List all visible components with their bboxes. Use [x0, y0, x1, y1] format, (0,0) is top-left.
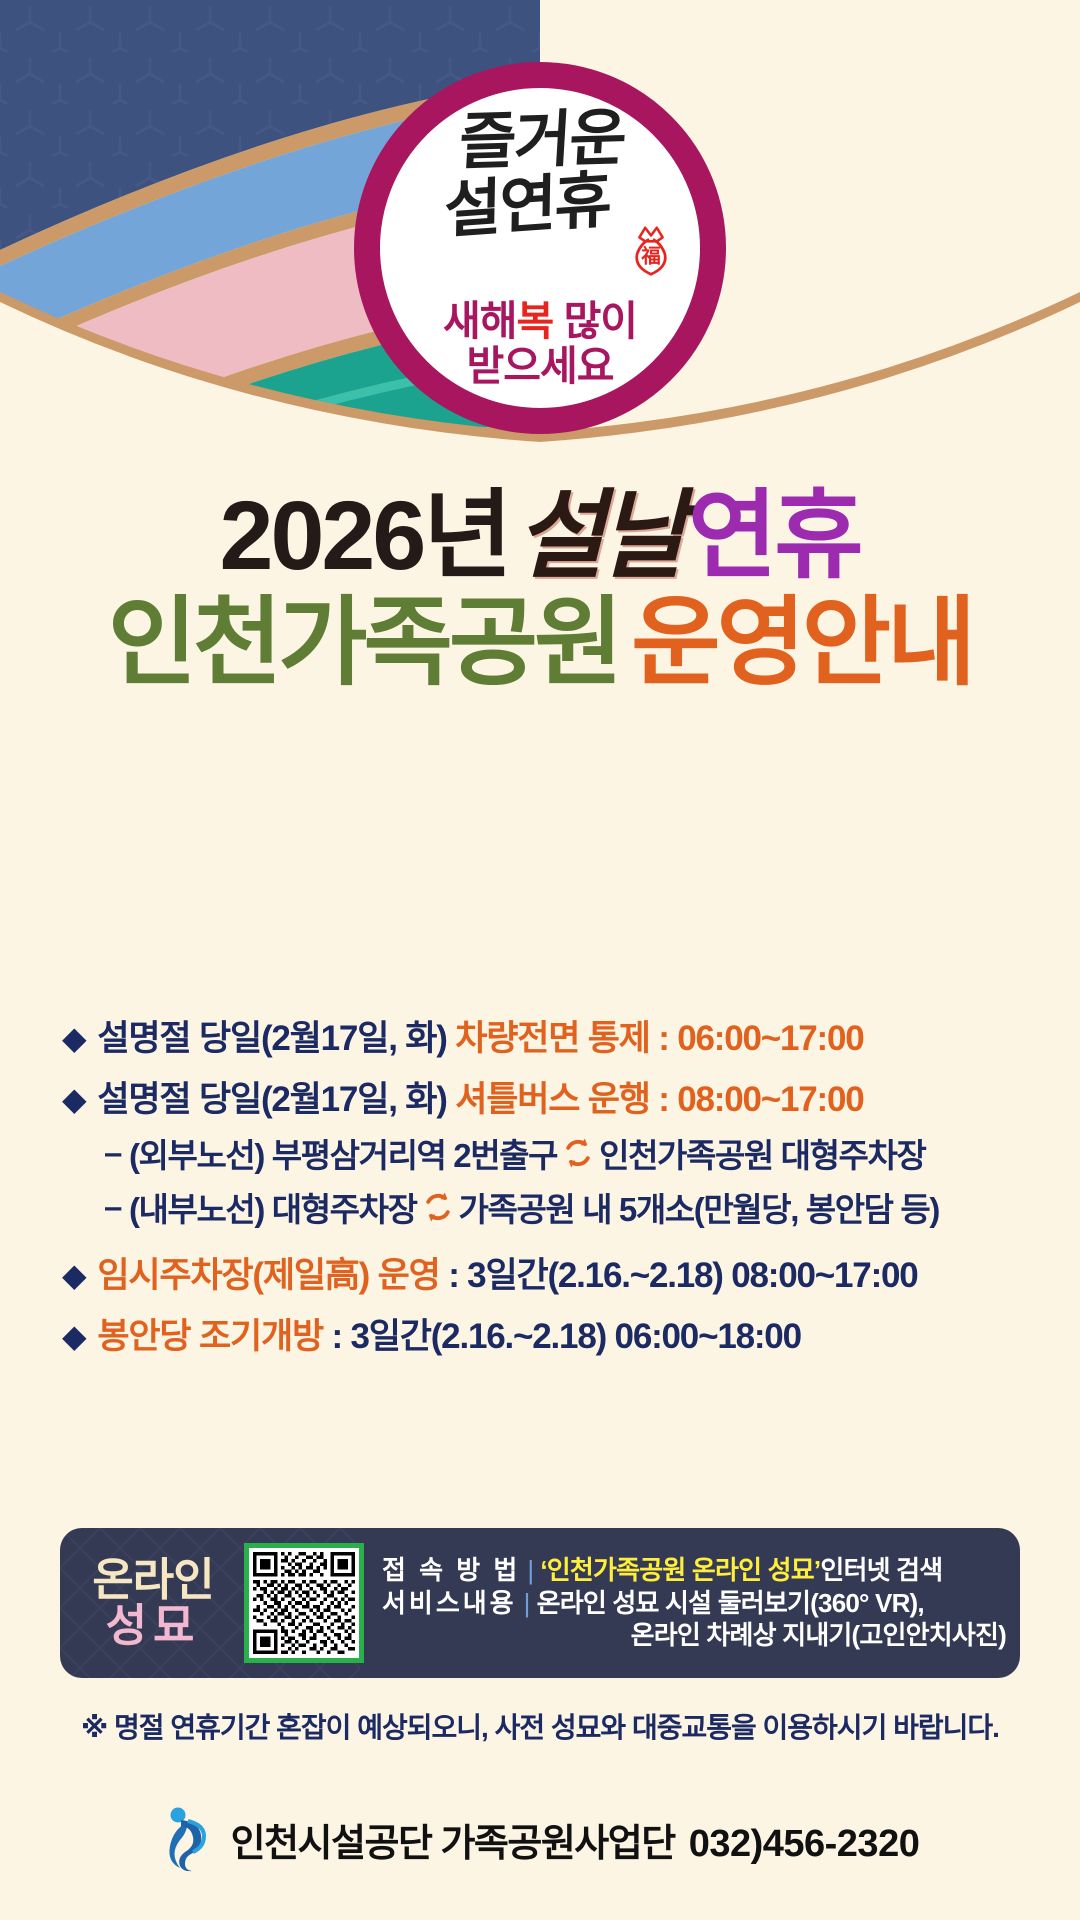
title-year: 2026년 [220, 481, 510, 590]
row3-highlight: 봉안당 조기개방 [97, 1317, 323, 1356]
panel-title: 온라인 성묘 [60, 1557, 238, 1649]
title-line-2: 인천가족공원운영안내 [0, 594, 1080, 691]
external-route-before: (외부노선) 부평삼거리역 2번출구 [129, 1129, 557, 1177]
footer-phone: 032)456-2320 [675, 1823, 920, 1865]
fortune-pouch-icon: 福 [620, 220, 682, 282]
row2-highlight: 임시주차장(제일高) 운영 [97, 1256, 439, 1295]
greeting-part2: 많이 [553, 298, 637, 344]
title-line-1: 2026년설날연휴 [0, 487, 1080, 584]
service-line2: 온라인 차례상 지내기(고인안치사진) [631, 1620, 1006, 1650]
qr-code[interactable] [244, 1543, 364, 1663]
row1-highlight: 셔틀버스 운행 [455, 1080, 650, 1119]
access-tail: 인터넷 검색 [820, 1555, 942, 1585]
cycle-arrow-icon [421, 1190, 455, 1224]
sub-row-internal-route: – (내부노선) 대형주차장 가족공원 내 5개소(만월당, 봉안담 등) [104, 1183, 1040, 1231]
congestion-notice: ※ 명절 연휴기간 혼잡이 예상되오니, 사전 성묘와 대중교통을 이용하시기 … [0, 1706, 1080, 1746]
new-year-seal: 즐거운 설연휴 福 새해복 많이 받으세요 [354, 62, 726, 434]
internal-route-after: 가족공원 내 5개소(만월당, 봉안담 등) [459, 1183, 939, 1231]
footer-text: 인천시설공단 가족공원사업단032)456-2320 [231, 1812, 920, 1867]
external-route-after: 인천가족공원 대형주차장 [599, 1129, 925, 1177]
info-row-shuttle-bus: ◆ 설명절 당일(2월17일, 화) 셔틀버스 운행 : 08:00~17:00 [62, 1079, 1040, 1122]
panel-title-line2: 성묘 [68, 1603, 238, 1649]
sub-row-external-route: – (외부노선) 부평삼거리역 2번출구 인천가족공원 대형주차장 [104, 1129, 1040, 1177]
info-row-traffic-control: ◆ 설명절 당일(2월17일, 화) 차량전면 통제 : 06:00~17:00 [62, 1018, 1040, 1061]
internal-route-before: (내부노선) 대형주차장 [129, 1183, 417, 1231]
info-row-early-opening: ◆ 봉안당 조기개방 : 3일간(2.16.~2.18) 06:00~18:00 [62, 1316, 1040, 1359]
info-row-temp-parking: ◆ 임시주차장(제일高) 운영 : 3일간(2.16.~2.18) 08:00~… [62, 1255, 1040, 1298]
row1-suffix: : 08:00~17:00 [650, 1080, 864, 1119]
row0-suffix: : 06:00~17:00 [650, 1019, 864, 1058]
footer: 인천시설공단 가족공원사업단032)456-2320 [0, 1806, 1080, 1872]
panel-service-row: 서비스내용|온라인 성묘 시설 둘러보기(360° VR), [382, 1587, 1006, 1620]
poster-root: 즐거운 설연휴 福 새해복 많이 받으세요 2026년설날연휴 인천가족공원운영… [0, 0, 1080, 1920]
dash-glyph: – [104, 1134, 121, 1172]
svg-text:福: 福 [640, 245, 660, 268]
diamond-bullet-icon: ◆ [62, 1018, 85, 1060]
greeting-bok: 복 [516, 298, 553, 344]
seal-greeting: 새해복 많이 받으세요 [380, 299, 700, 388]
greeting-line2: 받으세요 [380, 344, 700, 388]
panel-text: 접 속 방 법|‘인천가족공원 온라인 성묘’인터넷 검색 서비스내용|온라인 … [382, 1554, 1020, 1652]
panel-access-row: 접 속 방 법|‘인천가족공원 온라인 성묘’인터넷 검색 [382, 1554, 1006, 1587]
info-list: ◆ 설명절 당일(2월17일, 화) 차량전면 통제 : 06:00~17:00… [62, 1018, 1040, 1377]
title-guide: 운영안내 [619, 588, 972, 697]
diamond-bullet-icon: ◆ [62, 1316, 85, 1358]
title-block: 2026년설날연휴 인천가족공원운영안내 [0, 487, 1080, 691]
diamond-bullet-icon: ◆ [62, 1079, 85, 1121]
greeting-part1: 새해 [443, 298, 516, 344]
panel-service-row-2: 온라인 차례상 지내기(고인안치사진) [382, 1619, 1006, 1652]
service-label: 서비스내용 [382, 1588, 517, 1618]
row1-prefix: 설명절 당일(2월17일, 화) [97, 1080, 455, 1119]
online-memorial-panel: 온라인 성묘 [60, 1528, 1020, 1678]
cycle-arrow-icon [561, 1136, 595, 1170]
diamond-bullet-icon: ◆ [62, 1255, 85, 1297]
dash-glyph: – [104, 1188, 121, 1226]
panel-title-line1: 온라인 [68, 1557, 238, 1603]
row2-suffix: : 3일간(2.16.~2.18) 08:00~17:00 [440, 1256, 918, 1295]
divider-glyph: | [517, 1588, 537, 1618]
footer-org: 인천시설공단 가족공원사업단 [231, 1823, 675, 1865]
divider-glyph: | [520, 1555, 540, 1585]
incheon-facilities-logo-icon [161, 1806, 215, 1872]
service-line1: 온라인 성묘 시설 둘러보기(360° VR), [537, 1588, 924, 1618]
row0-highlight: 차량전면 통제 [455, 1019, 650, 1058]
title-seollal: 설날 [510, 478, 688, 592]
title-yeonhyu: 연휴 [688, 481, 860, 590]
title-park: 인천가족공원 [108, 588, 619, 697]
access-label: 접 속 방 법 [382, 1555, 520, 1585]
access-highlight: ‘인천가족공원 온라인 성묘’ [540, 1555, 820, 1585]
row0-prefix: 설명절 당일(2월17일, 화) [97, 1019, 455, 1058]
row3-suffix: : 3일간(2.16.~2.18) 06:00~18:00 [323, 1317, 801, 1356]
